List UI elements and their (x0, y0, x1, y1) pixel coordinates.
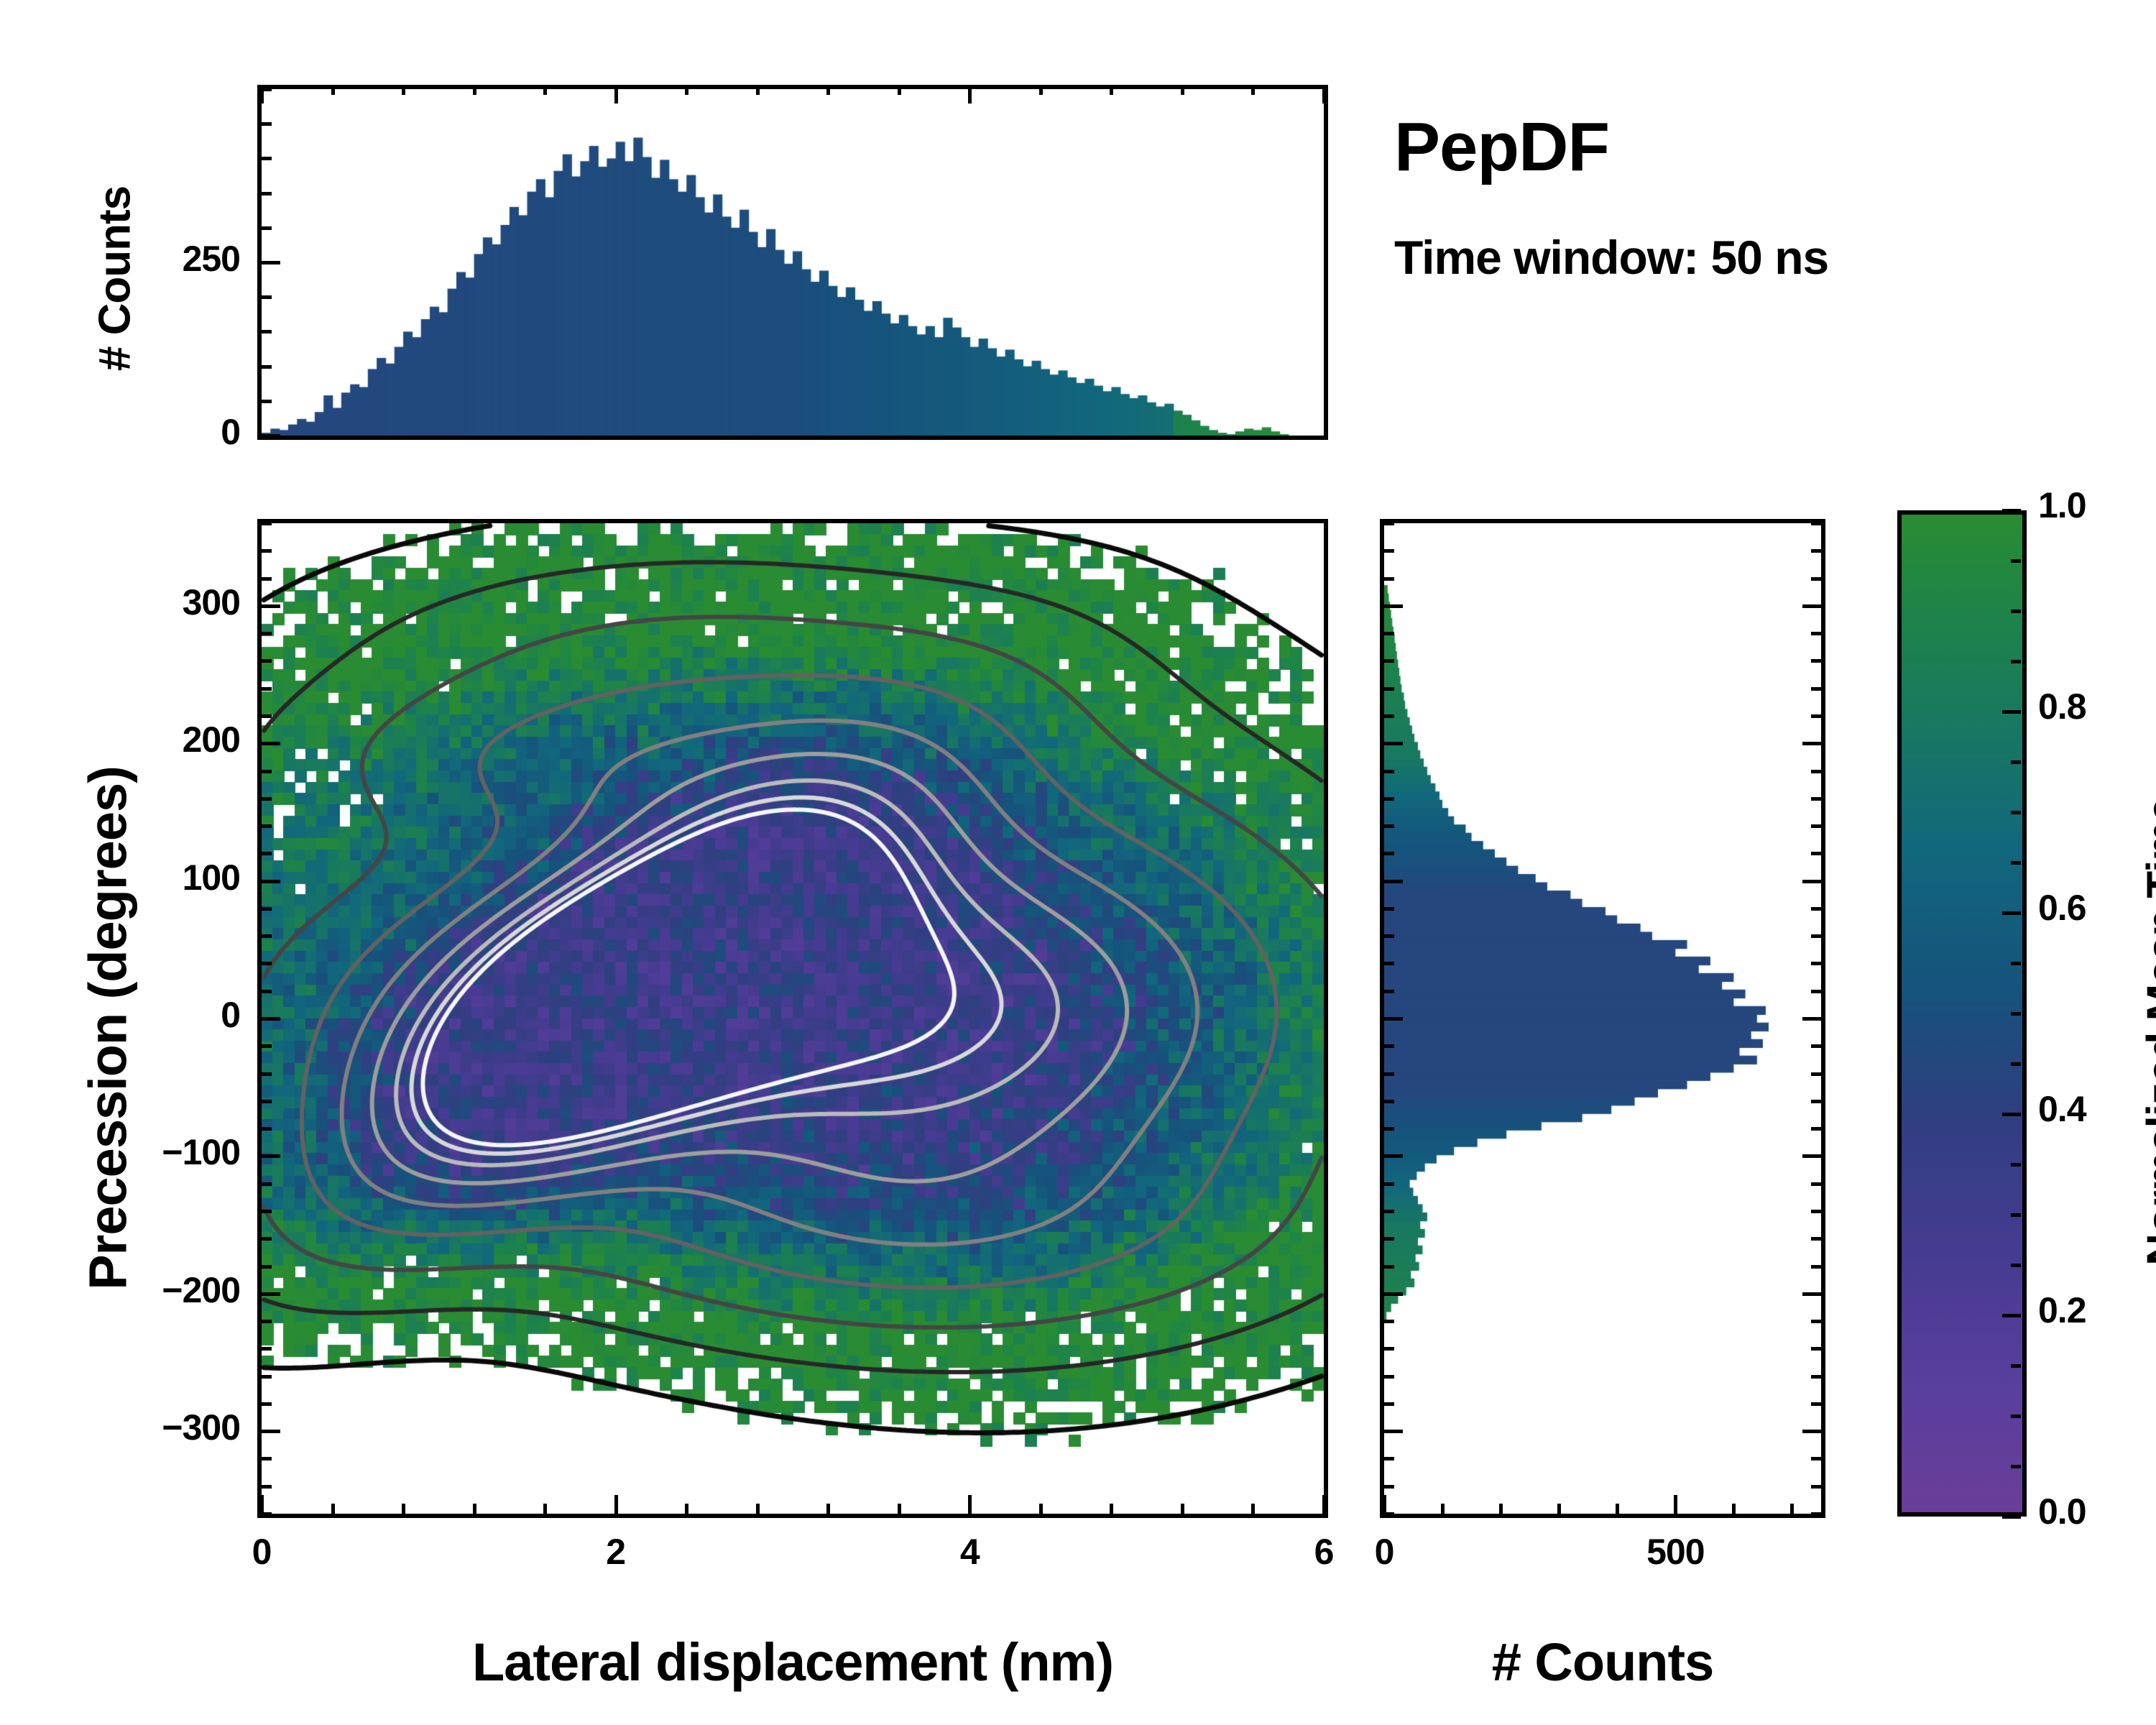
tick-mark (1384, 1265, 1394, 1269)
tick-mark (968, 1495, 972, 1514)
tick-mark (1181, 85, 1184, 95)
tick-mark (1384, 604, 1403, 608)
tick-mark (262, 1430, 280, 1433)
figure-root: PepDF Time window: 50 ns 0250 # Counts 3… (0, 0, 2156, 1725)
top-histogram-canvas (262, 89, 1324, 436)
tick-mark (262, 549, 272, 553)
tick-mark (2011, 1062, 2021, 1066)
tick-mark (2011, 811, 2021, 814)
tick-mark (262, 1182, 272, 1186)
tick-mark (1384, 687, 1394, 691)
tick-mark (1384, 1044, 1394, 1048)
tick-mark (1383, 1495, 1386, 1514)
tick-mark (2011, 962, 2021, 965)
tick-mark (260, 1495, 264, 1514)
tick-mark (1322, 85, 1326, 103)
tick-mark (1384, 1100, 1394, 1103)
tick-mark (1811, 1402, 1821, 1406)
tick-mark (2011, 861, 2021, 865)
tick-mark (1811, 522, 1821, 525)
tick-mark (262, 1072, 272, 1076)
tick-mark (1811, 549, 1821, 553)
tick-mark (1384, 1320, 1394, 1323)
tick-mark (262, 852, 272, 855)
tick-mark (1811, 1100, 1821, 1103)
tick-mark (331, 85, 335, 95)
tick-mark (1384, 1017, 1403, 1021)
tick-mark (968, 85, 972, 103)
tick-mark (1441, 1504, 1445, 1514)
tick-mark (262, 659, 272, 663)
tick-mark (1384, 1072, 1394, 1076)
tick-mark (262, 330, 272, 333)
tick-mark (262, 1457, 272, 1460)
tick-mark (262, 1292, 280, 1296)
tick-mark (1811, 797, 1821, 801)
tick-mark (262, 1485, 272, 1489)
tick-mark (2002, 911, 2021, 915)
tick-mark (1384, 1127, 1394, 1131)
tick-mark (262, 122, 272, 126)
tick-mark (1811, 1265, 1821, 1269)
tick-mark (1811, 962, 1821, 965)
tick-mark (262, 226, 272, 230)
tick-mark (2011, 1213, 2021, 1217)
right-histogram-canvas (1384, 523, 1821, 1514)
colorbar-label: Normalized Mean Time (2138, 529, 2156, 1535)
tick-label: 2 (544, 1531, 688, 1573)
tick-mark (1811, 1485, 1821, 1489)
tick-mark (614, 85, 618, 103)
tick-mark (262, 261, 280, 264)
tick-mark (1811, 824, 1821, 828)
tick-mark (262, 1100, 272, 1103)
tick-mark (543, 85, 547, 95)
tick-mark (543, 1504, 547, 1514)
tick-mark (1384, 577, 1394, 581)
tick-label: 1.0 (2038, 484, 2156, 526)
tick-mark (262, 1265, 272, 1269)
tick-mark (1110, 1504, 1113, 1514)
tick-mark (1802, 1154, 1821, 1158)
tick-mark (1802, 1017, 1821, 1021)
tick-mark (1557, 1504, 1561, 1514)
tick-mark (262, 1347, 272, 1351)
tick-label: 0 (190, 1531, 333, 1573)
tick-mark (1384, 632, 1394, 635)
tick-mark (1802, 1430, 1821, 1433)
tick-mark (2002, 1314, 2021, 1317)
tick-mark (262, 1044, 272, 1048)
colorbar-gradient (1902, 515, 2022, 1512)
tick-mark (1384, 1402, 1394, 1406)
tick-mark (1384, 1375, 1394, 1379)
tick-mark (756, 85, 760, 95)
tick-mark (1732, 1504, 1736, 1514)
tick-mark (262, 400, 272, 403)
tick-mark (1802, 742, 1821, 745)
tick-mark (1674, 1495, 1677, 1514)
tick-mark (1384, 1154, 1403, 1158)
tick-mark (2002, 710, 2021, 714)
tick-mark (2002, 509, 2021, 512)
tick-mark (1811, 934, 1821, 938)
tick-mark (1802, 604, 1821, 608)
tick-mark (1384, 1292, 1403, 1296)
tick-mark (1384, 907, 1394, 911)
tick-mark (1039, 85, 1043, 95)
tick-mark (1811, 852, 1821, 855)
tick-mark (473, 1504, 476, 1514)
tick-mark (1384, 824, 1394, 828)
tick-mark (1811, 687, 1821, 691)
tick-mark (1499, 1504, 1503, 1514)
tick-mark (1384, 522, 1394, 525)
tick-mark (898, 85, 901, 95)
tick-mark (1384, 549, 1394, 553)
tick-mark (262, 770, 272, 773)
tick-mark (262, 687, 272, 691)
tick-mark (2011, 1465, 2021, 1468)
tick-mark (1384, 1347, 1394, 1351)
figure-title: PepDF (1394, 108, 1609, 187)
tick-mark (262, 880, 280, 883)
tick-mark (1251, 85, 1255, 95)
tick-mark (1811, 990, 1821, 993)
tick-mark (1181, 1504, 1184, 1514)
tick-mark (1384, 1182, 1394, 1186)
tick-mark (262, 907, 272, 911)
right-histogram-xlabel: # Counts (1380, 1632, 1825, 1693)
tick-mark (1251, 1504, 1255, 1514)
tick-mark (1384, 1457, 1394, 1460)
tick-mark (2011, 1414, 2021, 1418)
tick-mark (262, 434, 280, 438)
tick-mark (1384, 1210, 1394, 1213)
tick-mark (2011, 1364, 2021, 1368)
tick-mark (262, 632, 272, 635)
tick-mark (262, 714, 272, 718)
tick-mark (262, 1017, 280, 1021)
tick-mark (1811, 632, 1821, 635)
tick-mark (1811, 1237, 1821, 1241)
tick-mark (1110, 85, 1113, 95)
tick-mark (262, 192, 272, 195)
tick-mark (262, 1210, 272, 1213)
tick-mark (473, 85, 476, 95)
tick-mark (2011, 1012, 2021, 1016)
colorbar-frame (1897, 510, 2027, 1517)
tick-mark (262, 522, 272, 525)
tick-mark (1811, 770, 1821, 773)
tick-mark (262, 1154, 280, 1158)
tick-mark (1384, 714, 1394, 718)
tick-mark (262, 962, 272, 965)
tick-mark (262, 1127, 272, 1131)
tick-mark (262, 157, 272, 160)
main-heatmap-canvas (262, 523, 1324, 1514)
tick-mark (262, 934, 272, 938)
tick-mark (1811, 1044, 1821, 1048)
tick-mark (262, 797, 272, 801)
tick-mark (1616, 1504, 1619, 1514)
tick-mark (1790, 1504, 1794, 1514)
tick-mark (1802, 1292, 1821, 1296)
tick-mark (1802, 880, 1821, 883)
tick-mark (685, 1504, 688, 1514)
tick-mark (2011, 1163, 2021, 1167)
tick-mark (1811, 907, 1821, 911)
tick-mark (2002, 1113, 2021, 1116)
tick-mark (756, 1504, 760, 1514)
tick-mark (826, 1504, 830, 1514)
tick-mark (260, 85, 264, 103)
tick-mark (1811, 714, 1821, 718)
tick-mark (2011, 559, 2021, 563)
tick-mark (262, 1237, 272, 1241)
tick-mark (1384, 1430, 1403, 1433)
tick-mark (1322, 1495, 1326, 1514)
tick-mark (262, 824, 272, 828)
tick-mark (402, 1504, 405, 1514)
tick-mark (1811, 1210, 1821, 1213)
tick-mark (1384, 742, 1403, 745)
tick-label: 0 (1312, 1531, 1456, 1573)
tick-mark (262, 742, 280, 745)
tick-mark (1384, 990, 1394, 993)
tick-mark (262, 577, 272, 581)
tick-mark (1384, 770, 1394, 773)
tick-mark (1811, 1072, 1821, 1076)
main-plot-ylabel: Precession (degrees) (78, 529, 139, 1528)
tick-mark (1384, 880, 1403, 883)
tick-mark (262, 365, 272, 369)
tick-mark (1384, 852, 1394, 855)
tick-mark (262, 1402, 272, 1406)
tick-mark (1384, 659, 1394, 663)
tick-mark (1811, 1457, 1821, 1460)
tick-mark (1384, 797, 1394, 801)
tick-label: 500 (1603, 1531, 1747, 1573)
main-plot-xlabel: Lateral displacement (nm) (257, 1632, 1328, 1693)
tick-mark (1384, 1485, 1394, 1489)
tick-mark (331, 1504, 335, 1514)
tick-mark (1811, 1182, 1821, 1186)
tick-mark (1811, 1347, 1821, 1351)
tick-mark (2002, 1515, 2021, 1519)
tick-mark (262, 990, 272, 993)
tick-mark (1384, 1237, 1394, 1241)
tick-mark (1811, 1320, 1821, 1323)
tick-mark (2011, 609, 2021, 613)
tick-mark (2011, 660, 2021, 663)
top-histogram-ylabel: # Counts (90, 135, 141, 423)
tick-mark (2011, 1264, 2021, 1267)
tick-mark (262, 1320, 272, 1323)
tick-mark (826, 85, 830, 95)
tick-mark (1811, 1127, 1821, 1131)
tick-mark (1811, 1512, 1821, 1516)
tick-mark (614, 1495, 618, 1514)
tick-label: 4 (898, 1531, 1041, 1573)
tick-mark (1384, 934, 1394, 938)
tick-mark (262, 604, 280, 608)
tick-mark (2011, 760, 2021, 764)
tick-mark (262, 1375, 272, 1379)
tick-mark (1039, 1504, 1043, 1514)
tick-mark (1811, 1375, 1821, 1379)
tick-mark (1811, 659, 1821, 663)
tick-mark (685, 85, 688, 95)
tick-mark (262, 295, 272, 299)
tick-mark (402, 85, 405, 95)
figure-subtitle: Time window: 50 ns (1394, 230, 1828, 285)
tick-mark (898, 1504, 901, 1514)
tick-mark (1811, 577, 1821, 581)
tick-mark (1384, 962, 1394, 965)
